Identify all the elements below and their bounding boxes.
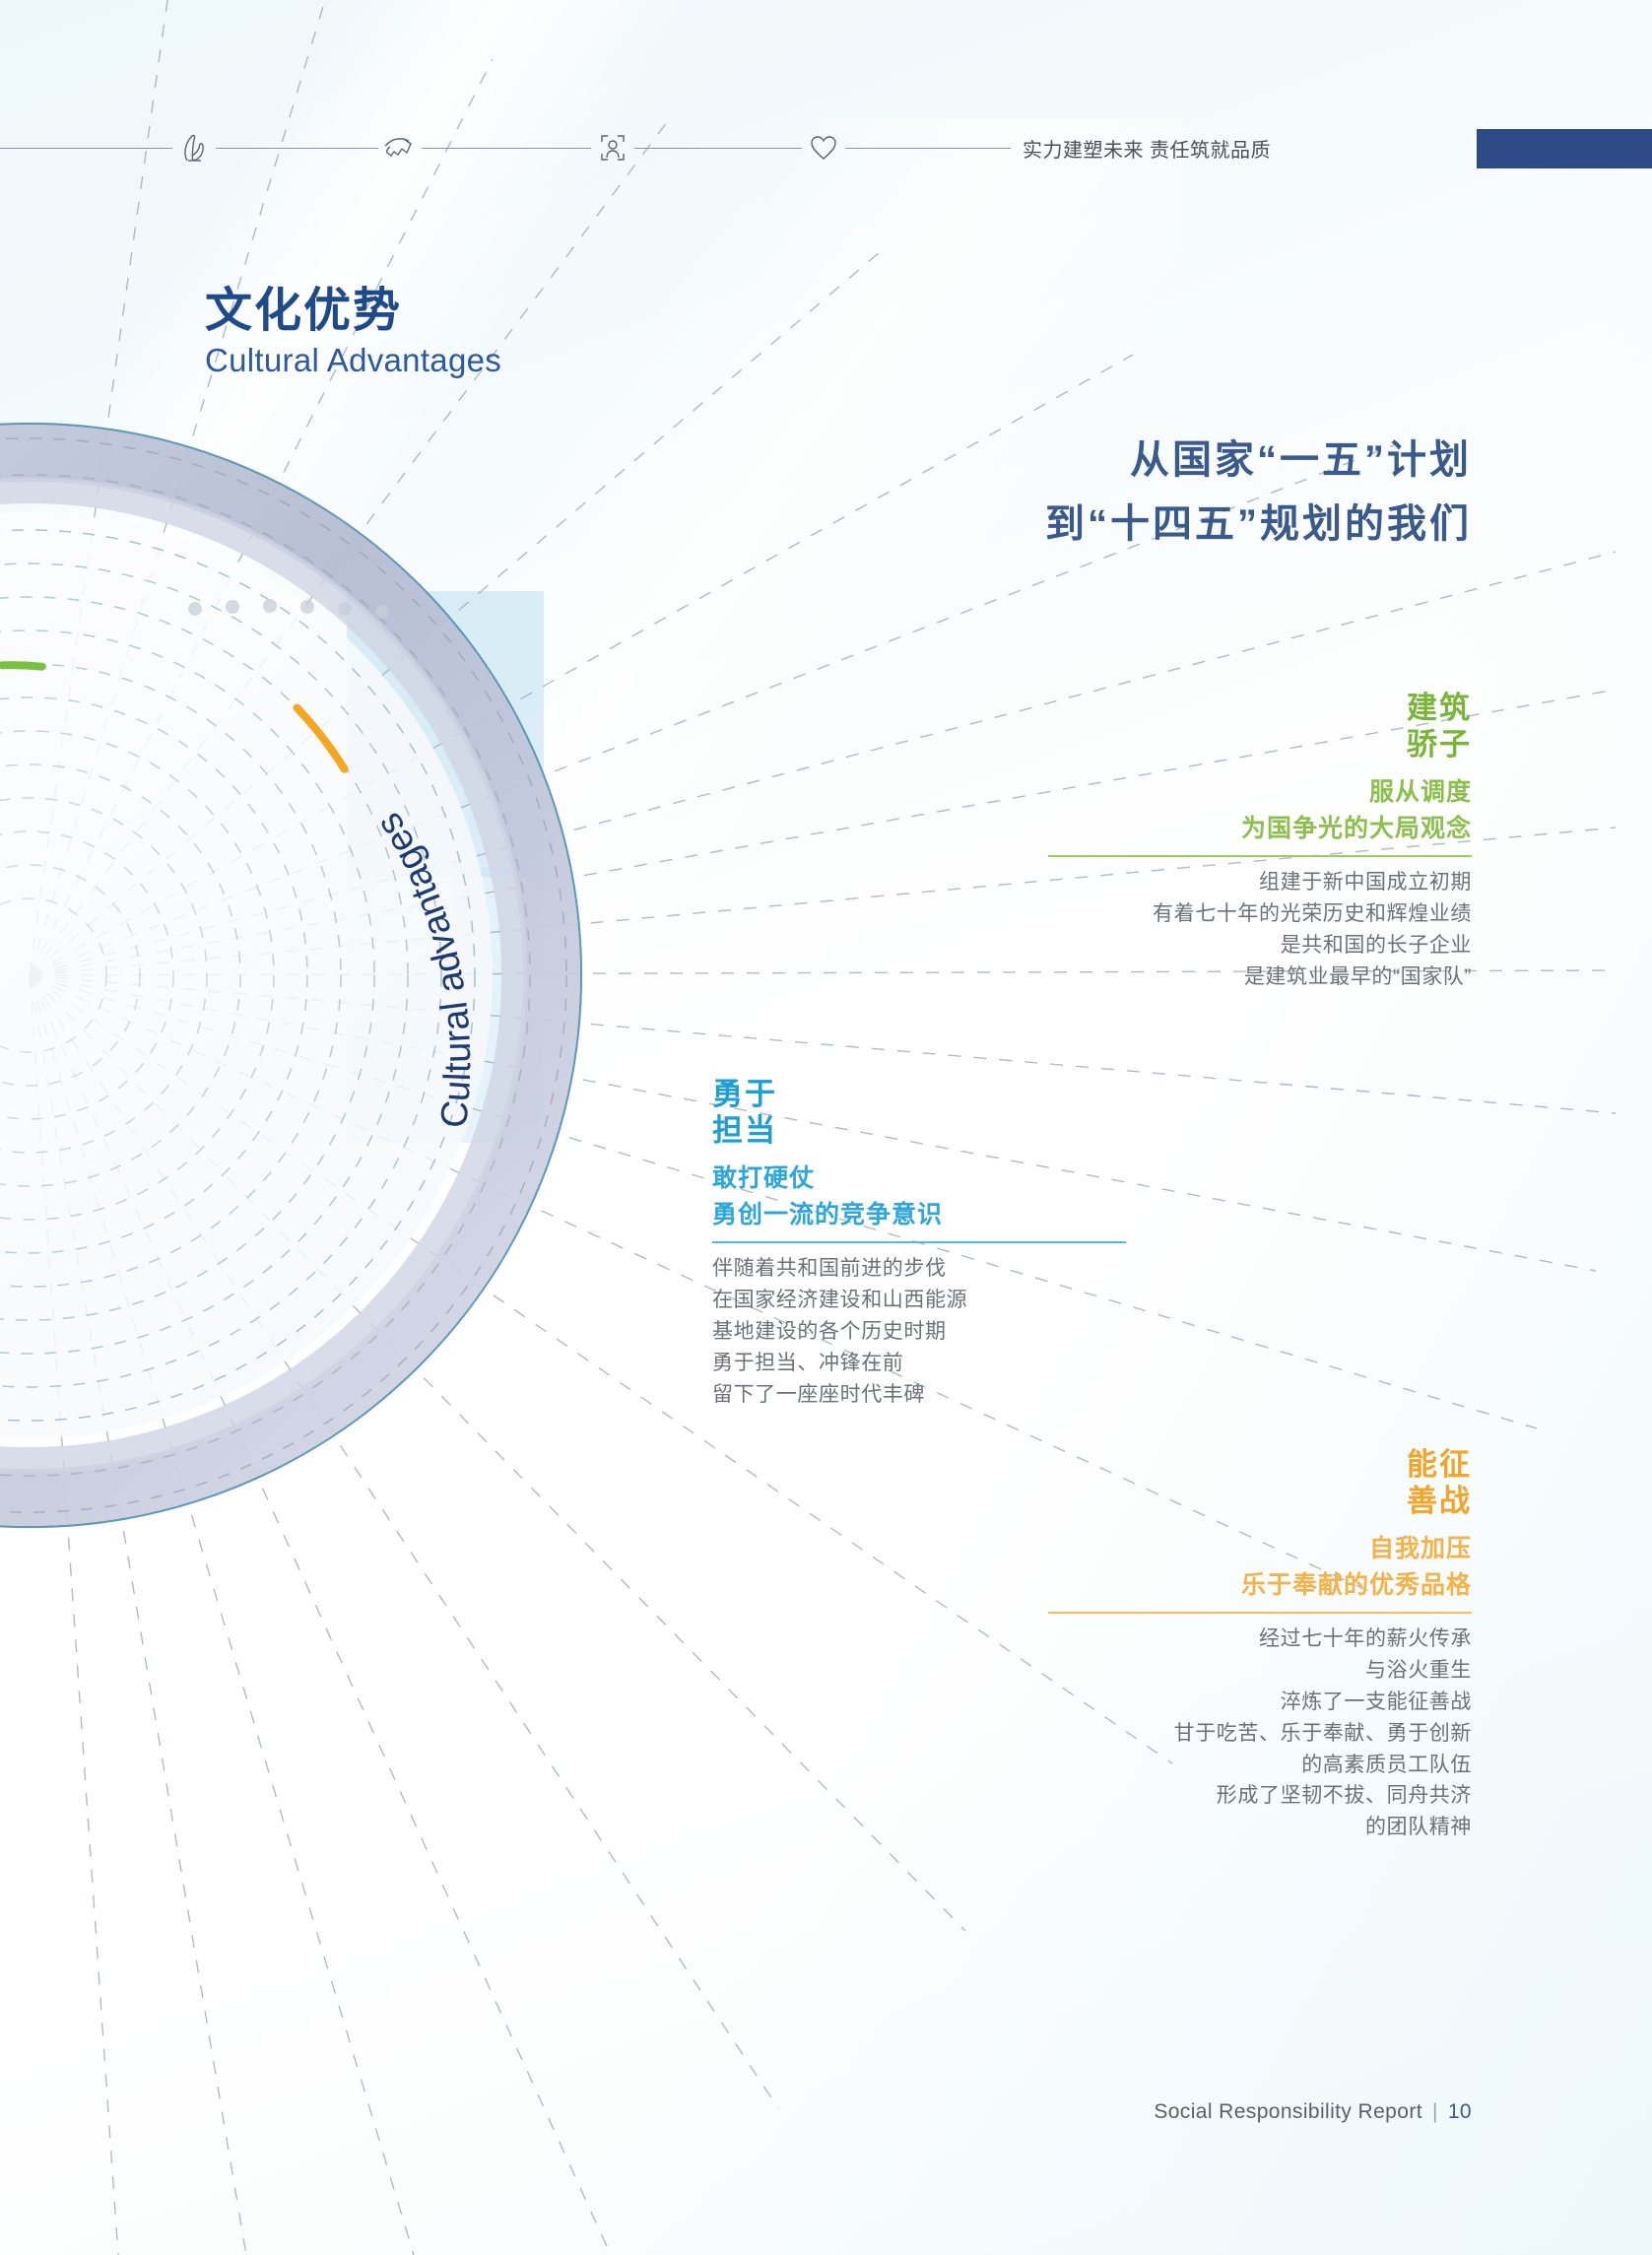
orange-body-line: 的团队精神 <box>1048 1812 1472 1843</box>
header-rule-1 <box>0 148 172 149</box>
headline: 从国家“一五”计划 到“十四五”规划的我们 <box>1045 429 1472 557</box>
page-title-en: Cultural Advantages <box>205 342 501 379</box>
green-body-line: 有着七十年的光荣历史和辉煌业绩 <box>1048 898 1472 930</box>
blue-heading-line-2: 担当 <box>712 1112 1126 1149</box>
footer-label: Social Responsibility Report <box>1154 2100 1422 2124</box>
blue-subheading-line-2: 勇创一流的竞争意识 <box>712 1197 1126 1232</box>
green-heading-line-1: 建筑 <box>1048 690 1472 726</box>
green-heading-line-2: 骄子 <box>1048 726 1472 763</box>
content-block-green: 建筑 骄子 服从调度 为国争光的大局观念 组建于新中国成立初期 有着七十年的光荣… <box>1048 690 1472 993</box>
green-body: 组建于新中国成立初期 有着七十年的光荣历史和辉煌业绩 是共和国的长子企业 是建筑… <box>1048 867 1472 993</box>
header-rule-4 <box>634 148 802 149</box>
handshake-icon <box>378 128 422 167</box>
orange-body-line: 的高素质员工队伍 <box>1048 1750 1472 1781</box>
blue-body-line: 在国家经济建设和山西能源 <box>712 1285 1126 1316</box>
headline-line-2: 到“十四五”规划的我们 <box>1045 493 1472 557</box>
footer-separator: | <box>1432 2100 1438 2124</box>
header-rule-5 <box>845 148 1011 149</box>
orange-body-line: 淬炼了一支能征善战 <box>1048 1687 1472 1718</box>
green-body-line: 组建于新中国成立初期 <box>1048 867 1472 898</box>
blue-body-line: 基地建设的各个历史时期 <box>712 1316 1126 1348</box>
person-in-frame-icon <box>591 128 634 167</box>
blue-body-line: 勇于担当、冲锋在前 <box>712 1348 1126 1379</box>
blue-body: 伴随着共和国前进的步伐 在国家经济建设和山西能源 基地建设的各个历史时期 勇于担… <box>712 1253 1126 1411</box>
green-divider <box>1048 855 1472 857</box>
orange-heading-line-2: 善战 <box>1048 1483 1472 1519</box>
blue-body-line: 伴随着共和国前进的步伐 <box>712 1253 1126 1285</box>
orange-subheading-line-2: 乐于奉献的优秀品格 <box>1048 1567 1472 1603</box>
green-subheading-line-2: 为国争光的大局观念 <box>1048 811 1472 846</box>
hammer-sickle-icon <box>172 128 216 167</box>
page-title: 文化优势 Cultural Advantages <box>205 284 501 379</box>
page-title-cn: 文化优势 <box>205 284 501 340</box>
blue-body-line: 留下了一座座时代丰碑 <box>712 1379 1126 1411</box>
heart-icon <box>802 128 845 167</box>
footer-page-number: 10 <box>1448 2100 1472 2124</box>
orange-body-line: 形成了坚韧不拔、同舟共济 <box>1048 1780 1472 1812</box>
header-slogan: 实力建塑未来 责任筑就品质 <box>1023 134 1271 163</box>
orange-body-line: 经过七十年的薪火传承 <box>1048 1624 1472 1655</box>
orange-body: 经过七十年的薪火传承 与浴火重生 淬炼了一支能征善战 甘于吃苦、乐于奉献、勇于创… <box>1048 1624 1472 1843</box>
orange-heading-line-1: 能征 <box>1048 1446 1472 1483</box>
header-icon-strip: 实力建塑未来 责任筑就品质 <box>0 128 1652 167</box>
orange-body-line: 与浴火重生 <box>1048 1655 1472 1687</box>
concentric-rings-graphic: Cultural advantages <box>0 394 611 1557</box>
content-block-orange: 能征 善战 自我加压 乐于奉献的优秀品格 经过七十年的薪火传承 与浴火重生 淬炼… <box>1048 1446 1472 1843</box>
green-body-line: 是共和国的长子企业 <box>1048 930 1472 962</box>
orange-body-line: 甘于吃苦、乐于奉献、勇于创新 <box>1048 1718 1472 1750</box>
headline-line-1: 从国家“一五”计划 <box>1045 429 1472 493</box>
blue-subheading-line-1: 敢打硬仗 <box>712 1161 1126 1196</box>
footer: Social Responsibility Report | 10 <box>1154 2100 1472 2124</box>
orange-subheading-line-1: 自我加压 <box>1048 1531 1472 1566</box>
orange-divider <box>1048 1612 1472 1614</box>
green-subheading-line-1: 服从调度 <box>1048 774 1472 810</box>
header-rule-2 <box>216 148 378 149</box>
header-accent-block <box>1477 129 1652 168</box>
content-block-blue: 勇于 担当 敢打硬仗 勇创一流的竞争意识 伴随着共和国前进的步伐 在国家经济建设… <box>712 1076 1126 1410</box>
header-rule-3 <box>422 148 591 149</box>
blue-divider <box>712 1241 1126 1243</box>
blue-heading-line-1: 勇于 <box>712 1076 1126 1112</box>
green-body-line: 是建筑业最早的“国家队” <box>1048 962 1472 993</box>
